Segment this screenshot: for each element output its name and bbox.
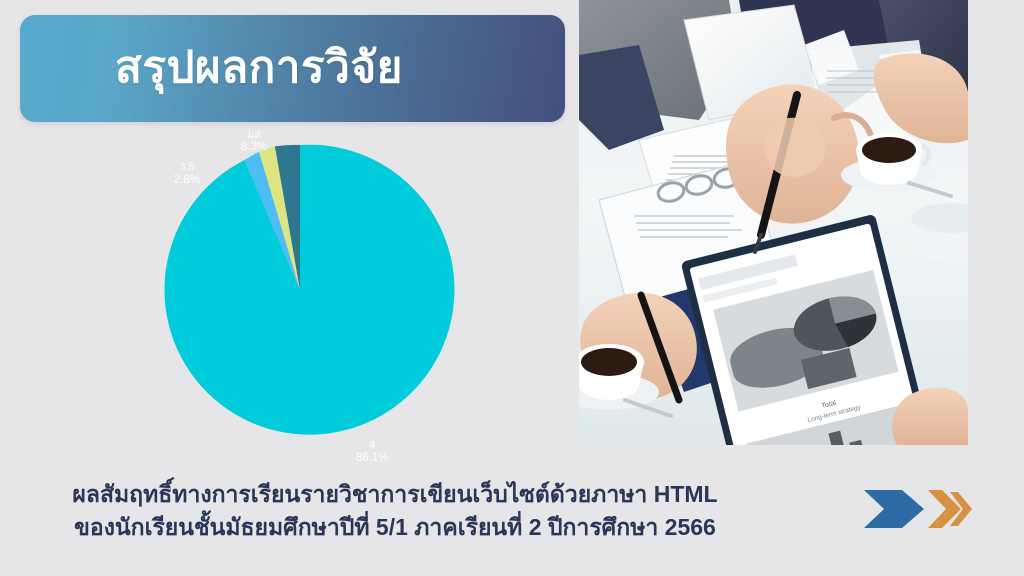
caption-line-1: ผลสัมฤทธิ์ทางการเรียนรายวิชาการเขียนเว็บ… (0, 478, 790, 511)
title-banner: สรุปผลการวิจัย (20, 15, 565, 122)
pie-label-mos-name: มส (247, 129, 261, 141)
caption: ผลสัมฤทธิ์ทางการเรียนรายวิชาการเขียนเว็บ… (0, 478, 790, 545)
slide-root: สรุปผลการวิจัย (0, 0, 1024, 576)
pie-label-grade4-name: 4 (369, 439, 375, 451)
chevron-blue-icon (864, 490, 924, 528)
pie-label-grade35-name: 3.5 (179, 161, 194, 173)
pie-chart: มส 8.3% 3.5 2.8% 4 86.1% (120, 125, 520, 470)
page-title: สรุปผลการวิจัย (115, 44, 403, 92)
pie-label-mos-pct: 8.3% (241, 141, 267, 153)
double-chevron-right-icon (862, 488, 972, 530)
pie-label-grade4-pct: 86.1% (356, 452, 389, 464)
pie-slice-grade4 (164, 145, 454, 435)
caption-line-2: ของนักเรียนชั้นมัธยมศึกษาปีที่ 5/1 ภาคเร… (0, 511, 790, 544)
business-meeting-photo: Total Long-term strategy (579, 0, 968, 445)
pie-label-grade35-pct: 2.8% (174, 174, 200, 186)
pie-slices (164, 145, 454, 435)
